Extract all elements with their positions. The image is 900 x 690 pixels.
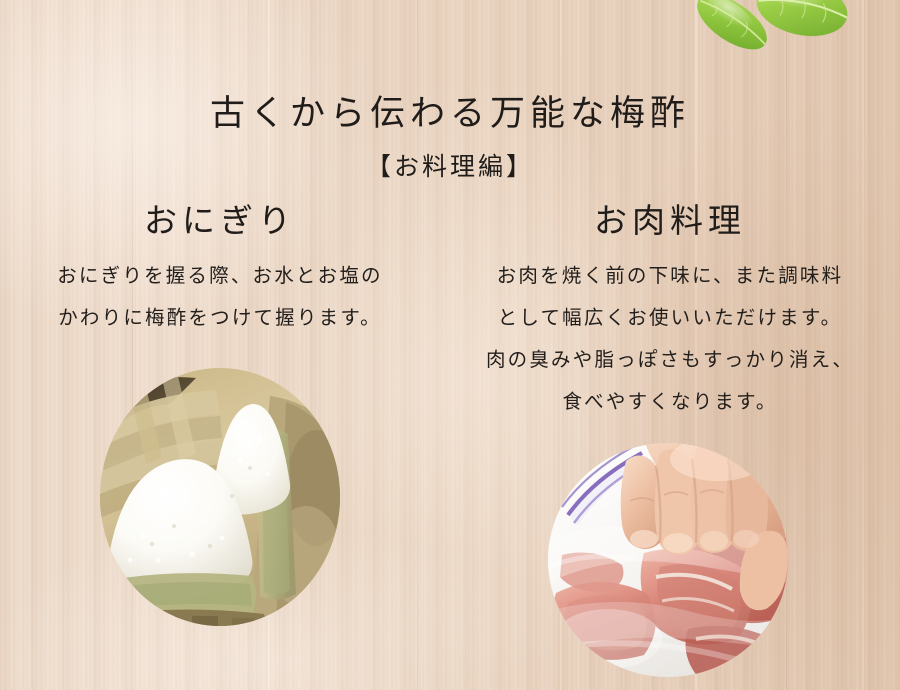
body-line: お肉を焼く前の下味に、また調味料 — [440, 256, 900, 298]
leaves-icon — [686, 0, 856, 56]
body-line: 肉の臭みや脂っぽさもすっかり消え、 — [440, 340, 900, 382]
photo-onigiri — [100, 368, 340, 626]
section-body-meat: お肉を焼く前の下味に、また調味料 として幅広くお使いいただけます。 肉の臭みや脂… — [440, 256, 900, 424]
section-meat: お肉料理 お肉を焼く前の下味に、また調味料 として幅広くお使いいただけます。 肉… — [440, 206, 900, 424]
promo-page: 古くから伝わる万能な梅酢 【お料理編】 おにぎり おにぎりを握る際、お水とお塩の… — [0, 0, 900, 690]
body-line: おにぎりを握る際、お水とお塩の — [0, 256, 440, 298]
onigiri-photo-illustration — [100, 368, 340, 626]
body-line: として幅広くお使いいただけます。 — [440, 298, 900, 340]
leaf-right — [751, 0, 852, 44]
page-subtitle: 【お料理編】 — [0, 155, 900, 180]
section-onigiri: おにぎり おにぎりを握る際、お水とお塩の かわりに梅酢をつけて握ります。 — [0, 206, 440, 340]
page-title: 古くから伝わる万能な梅酢 — [0, 96, 900, 131]
leaf-decoration — [686, 0, 856, 56]
section-heading-onigiri: おにぎり — [0, 206, 440, 239]
photo-meat — [548, 443, 788, 677]
body-line: 食べやすくなります。 — [440, 382, 900, 424]
meat-marinating-photo-illustration — [548, 443, 788, 677]
leaf-left — [688, 0, 776, 56]
section-heading-meat: お肉料理 — [440, 206, 900, 239]
section-body-onigiri: おにぎりを握る際、お水とお塩の かわりに梅酢をつけて握ります。 — [0, 256, 440, 340]
body-line: かわりに梅酢をつけて握ります。 — [0, 298, 440, 340]
